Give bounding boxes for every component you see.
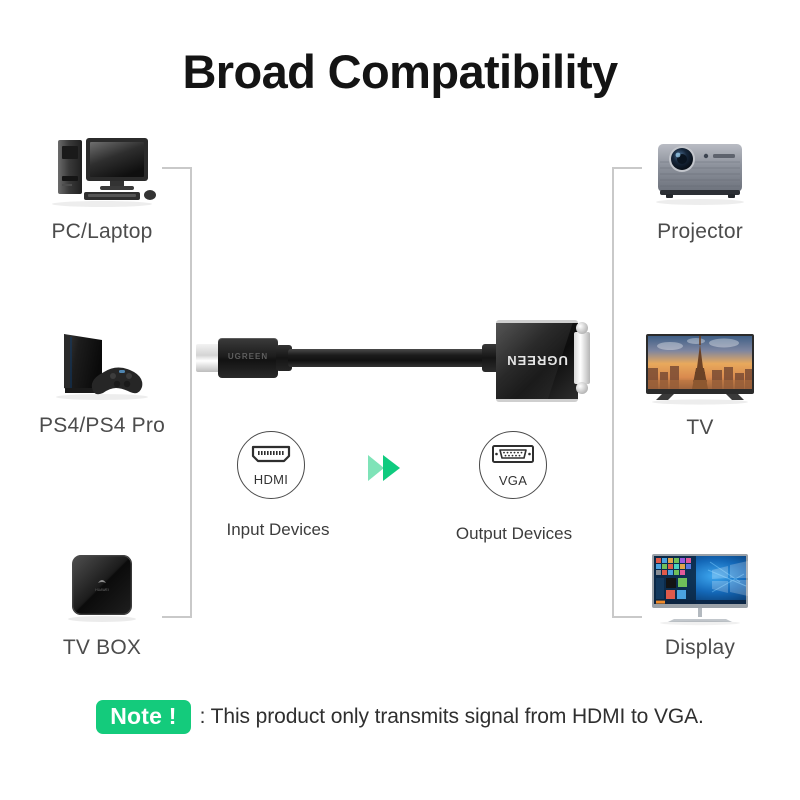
double-arrow-right-icon bbox=[366, 451, 406, 490]
flat-cable bbox=[288, 349, 488, 367]
device-display: Display bbox=[600, 548, 800, 660]
device-pc-laptop: PC/Laptop bbox=[2, 132, 202, 244]
output-devices-label: Output Devices bbox=[418, 524, 610, 544]
projector-icon bbox=[600, 132, 800, 210]
badge-label: HDMI bbox=[254, 472, 288, 487]
device-label: Projector bbox=[600, 220, 800, 244]
device-label: TV BOX bbox=[2, 636, 202, 660]
vga-screw-bottom bbox=[576, 382, 588, 394]
note-badge: Note ! bbox=[96, 700, 190, 734]
hdmi-brand-text: UGREEN bbox=[218, 352, 278, 361]
device-ps4: PS4/PS4 Pro bbox=[2, 326, 202, 438]
monitor-display-icon bbox=[600, 548, 800, 626]
device-tv: TV bbox=[600, 328, 800, 440]
game-console-icon bbox=[2, 326, 202, 404]
note-bar: Note ! : This product only transmits sig… bbox=[0, 700, 800, 734]
vga-port-badge: VGA bbox=[479, 431, 547, 499]
hdmi-connector-tip bbox=[196, 344, 220, 372]
badge-label: VGA bbox=[499, 473, 527, 488]
device-label: PS4/PS4 Pro bbox=[2, 414, 202, 438]
ugreen-brand-text: UGREEN bbox=[496, 353, 578, 368]
device-tv-box: HUAWEI TV BOX bbox=[2, 548, 202, 660]
tv-box-icon: HUAWEI bbox=[2, 548, 202, 626]
vga-adapter-housing: UGREEN bbox=[496, 320, 578, 402]
hdmi-port-badge: HDMI bbox=[237, 431, 305, 499]
device-projector: Projector bbox=[600, 132, 800, 244]
device-label: PC/Laptop bbox=[2, 220, 202, 244]
vga-port-icon bbox=[491, 443, 535, 470]
note-text: : This product only transmits signal fro… bbox=[200, 705, 704, 729]
hdmi-connector-housing: UGREEN bbox=[218, 338, 278, 378]
page-title: Broad Compatibility bbox=[0, 44, 800, 99]
vga-screw-top bbox=[576, 322, 588, 334]
television-icon bbox=[600, 328, 800, 406]
desktop-computer-icon bbox=[2, 132, 202, 210]
infographic-canvas: Broad Compatibility bbox=[0, 0, 800, 800]
hdmi-port-icon bbox=[250, 444, 292, 469]
vga-female-port bbox=[574, 332, 590, 384]
input-devices-label: Input Devices bbox=[182, 520, 374, 540]
hdmi-to-vga-adapter-product: UGREEN UGREEN bbox=[196, 318, 596, 398]
svg-text:HUAWEI: HUAWEI bbox=[95, 588, 108, 592]
device-label: TV bbox=[600, 416, 800, 440]
device-label: Display bbox=[600, 636, 800, 660]
